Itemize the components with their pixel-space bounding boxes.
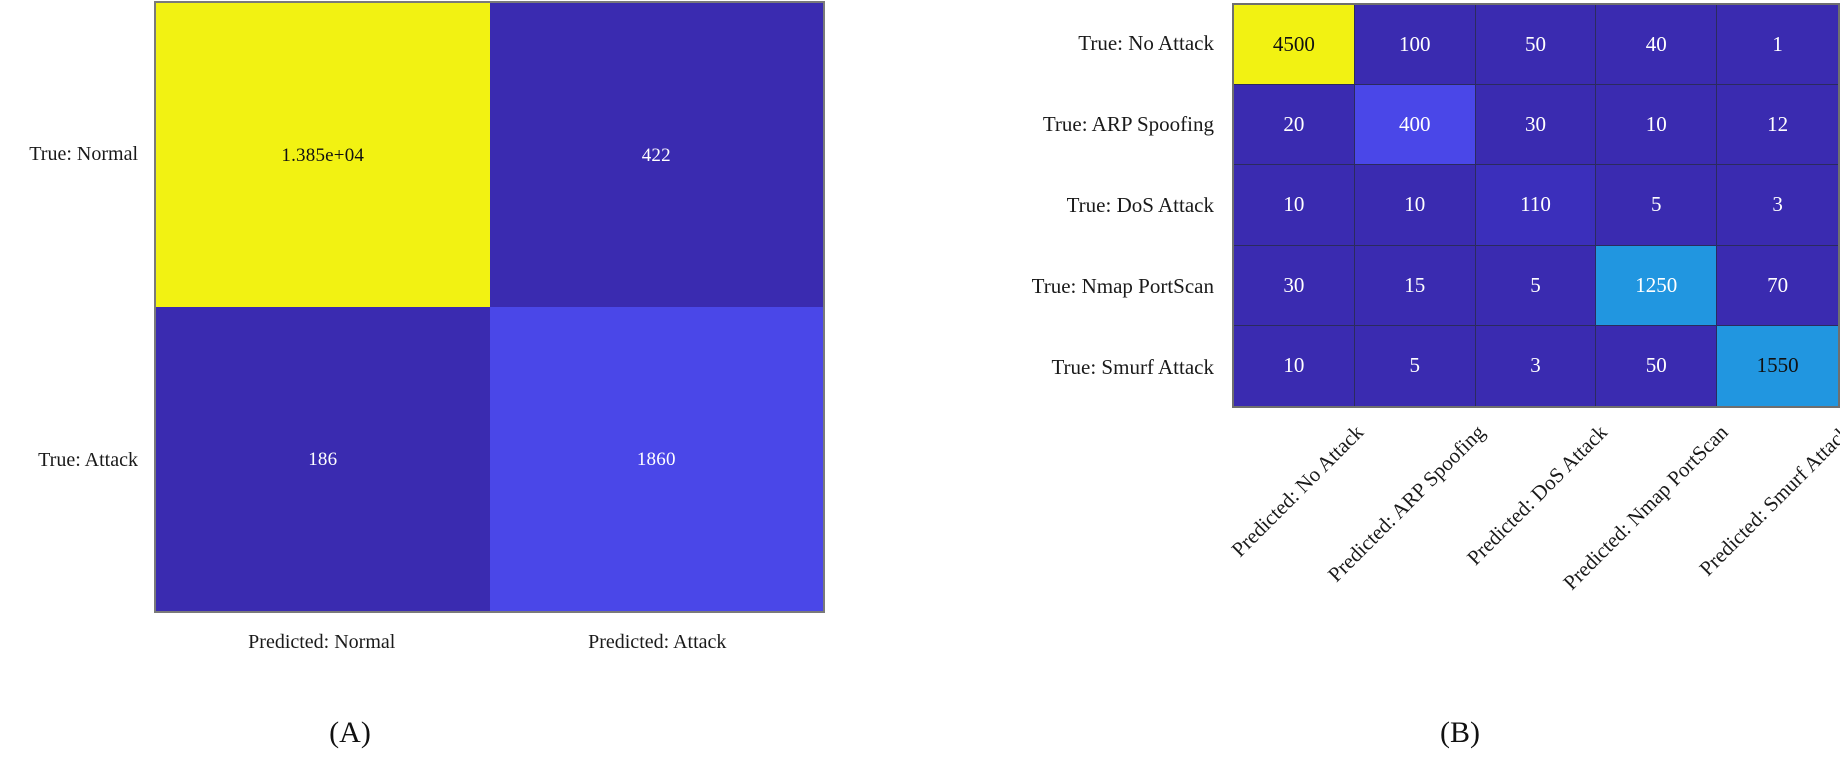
panel-a: True: Normal True: Attack 1.385e+04 422 …	[0, 0, 840, 774]
matrix-cell: 4500	[1234, 5, 1355, 85]
panel-b: True: No Attack True: ARP Spoofing True:…	[840, 0, 1840, 774]
matrix-cell: 1860	[490, 307, 824, 611]
panel-a-column-labels: Predicted: Normal Predicted: Attack	[154, 617, 825, 661]
matrix-cell: 1250	[1596, 246, 1717, 326]
matrix-cell: 10	[1355, 165, 1476, 245]
matrix-cell: 12	[1717, 85, 1838, 165]
matrix-cell: 3	[1717, 165, 1838, 245]
matrix-cell: 50	[1596, 326, 1717, 406]
matrix-cell: 15	[1355, 246, 1476, 326]
matrix-cell: 10	[1234, 326, 1355, 406]
row-label: True: Nmap PortScan	[840, 246, 1224, 327]
matrix-cell: 422	[490, 3, 824, 307]
matrix-cell: 50	[1476, 5, 1597, 85]
matrix-cell: 110	[1476, 165, 1597, 245]
matrix-cell: 3	[1476, 326, 1597, 406]
panel-b-row-labels: True: No Attack True: ARP Spoofing True:…	[840, 3, 1224, 408]
matrix-cell: 5	[1596, 165, 1717, 245]
column-label: Predicted: No Attack	[1227, 420, 1369, 562]
matrix-cell: 1	[1717, 5, 1838, 85]
matrix-cell: 10	[1234, 165, 1355, 245]
matrix-cell: 40	[1596, 5, 1717, 85]
matrix-cell: 5	[1476, 246, 1597, 326]
matrix-cell: 5	[1355, 326, 1476, 406]
row-label: True: Normal	[0, 1, 146, 307]
row-label: True: No Attack	[840, 3, 1224, 84]
matrix-cell: 10	[1596, 85, 1717, 165]
matrix-cell: 186	[156, 307, 490, 611]
matrix-cell: 100	[1355, 5, 1476, 85]
figure-confusion-matrices: True: Normal True: Attack 1.385e+04 422 …	[0, 0, 1840, 774]
matrix-cell: 1.385e+04	[156, 3, 490, 307]
matrix-cell: 70	[1717, 246, 1838, 326]
matrix-cell: 1550	[1717, 326, 1838, 406]
confusion-matrix-a: 1.385e+04 422 186 1860	[154, 1, 825, 613]
matrix-cell: 20	[1234, 85, 1355, 165]
matrix-cell: 30	[1234, 246, 1355, 326]
panel-a-caption: (A)	[0, 716, 700, 750]
row-label: True: DoS Attack	[840, 165, 1224, 246]
panel-b-column-labels: Predicted: No Attack Predicted: ARP Spoo…	[1232, 408, 1840, 638]
row-label: True: Smurf Attack	[840, 327, 1224, 408]
panel-b-caption: (B)	[1260, 716, 1660, 750]
column-label: Predicted: Attack	[490, 617, 826, 661]
confusion-matrix-b: 4500 100 50 40 1 20 400 30 10 12 10 10 1…	[1232, 3, 1840, 408]
panel-a-row-labels: True: Normal True: Attack	[0, 1, 146, 613]
matrix-cell: 400	[1355, 85, 1476, 165]
row-label: True: Attack	[0, 307, 146, 613]
row-label: True: ARP Spoofing	[840, 84, 1224, 165]
matrix-cell: 30	[1476, 85, 1597, 165]
column-label: Predicted: Normal	[154, 617, 490, 661]
